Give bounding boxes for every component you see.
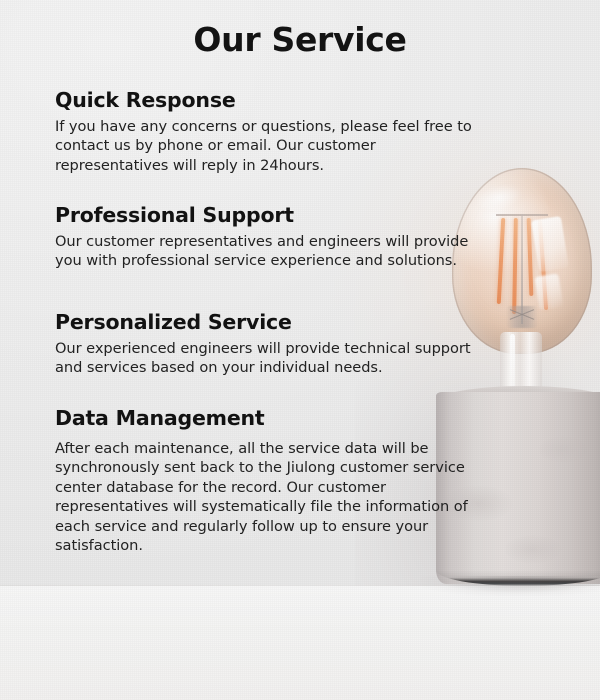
service-content: Our Service Quick Response If you have a… <box>0 0 600 700</box>
section-personalized-service: Personalized Service Our experienced eng… <box>55 310 491 378</box>
section-professional-support: Professional Support Our customer repres… <box>55 203 495 271</box>
section-body: Our customer representatives and enginee… <box>55 232 495 271</box>
section-quick-response: Quick Response If you have any concerns … <box>55 88 491 175</box>
section-body: After each maintenance, all the service … <box>55 439 495 555</box>
section-heading: Data Management <box>55 406 495 430</box>
section-heading: Personalized Service <box>55 310 491 334</box>
page-title: Our Service <box>0 20 600 59</box>
section-body: If you have any concerns or questions, p… <box>55 117 491 175</box>
section-heading: Professional Support <box>55 203 495 227</box>
section-body: Our experienced engineers will provide t… <box>55 339 491 378</box>
section-heading: Quick Response <box>55 88 491 112</box>
section-data-management: Data Management After each maintenance, … <box>55 406 495 555</box>
service-page: Our Service Quick Response If you have a… <box>0 0 600 700</box>
